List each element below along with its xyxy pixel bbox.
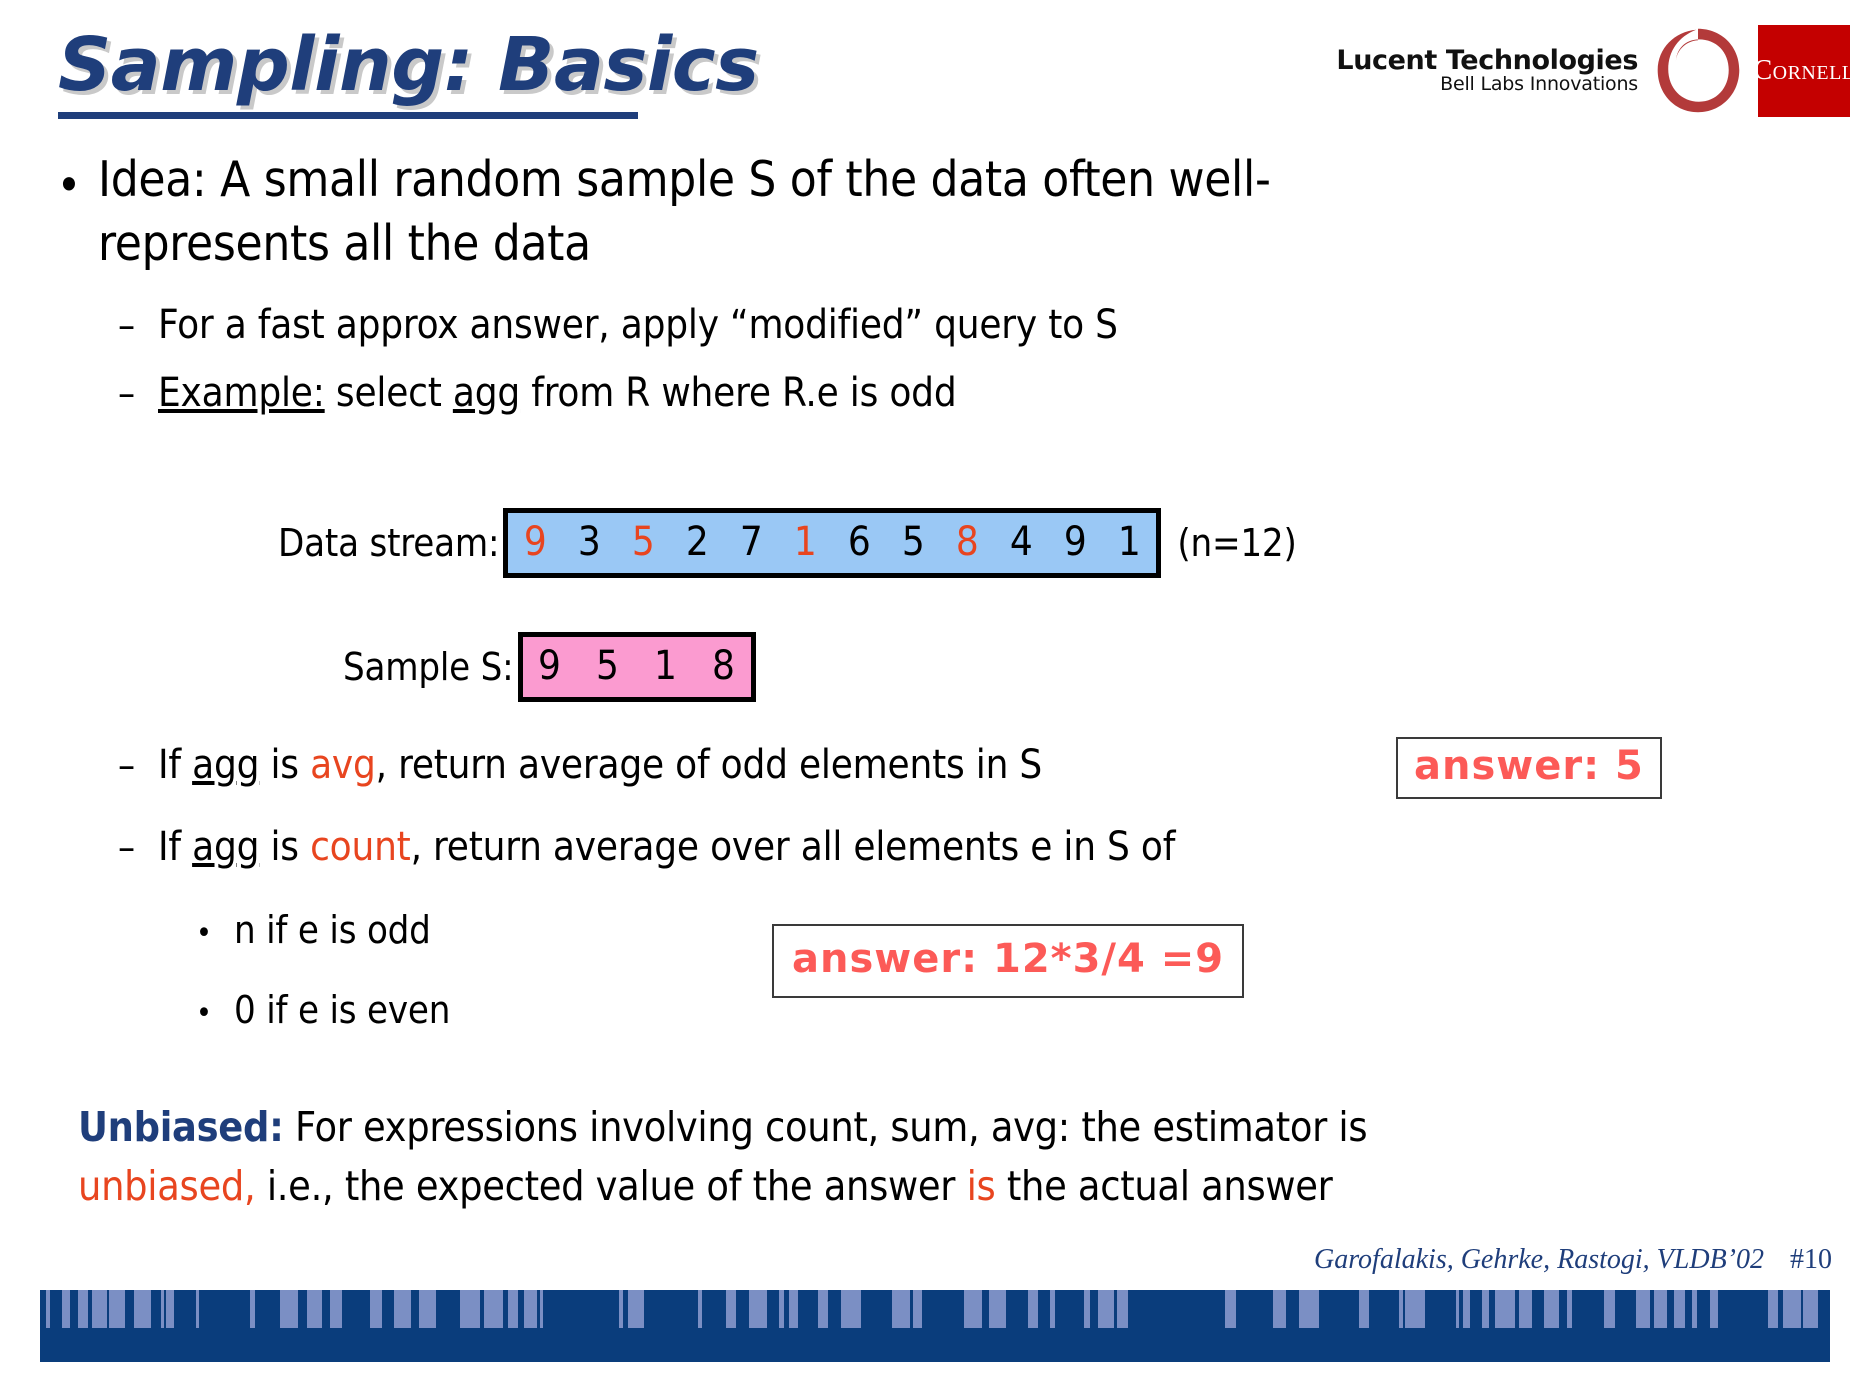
lucent-tagline: Bell Labs Innovations	[1336, 75, 1638, 95]
count-rest: , return average over all elements e in …	[411, 824, 1176, 870]
sample-cell: 1	[653, 641, 679, 691]
bullet-marker: •	[196, 916, 234, 951]
footer-stripe	[134, 1290, 151, 1328]
footer-stripe	[1674, 1290, 1685, 1328]
data-stream-cell: 4	[1008, 517, 1034, 567]
footer-stripe	[460, 1290, 480, 1328]
answer-avg-box: answer: 5	[1396, 737, 1662, 799]
bullet-agg-count-text: If agg is count, return average over all…	[158, 824, 1175, 870]
footer-stripe	[1028, 1290, 1038, 1328]
title-underline	[58, 112, 638, 119]
dash-marker: –	[118, 743, 158, 787]
footer-stripe	[1482, 1290, 1489, 1328]
bullet-zero-even: • 0 if e is even	[196, 988, 450, 1032]
data-stream-cell: 1	[792, 517, 818, 567]
footer-stripe	[1495, 1290, 1515, 1328]
footer-stripe	[628, 1290, 644, 1328]
footer-stripe	[508, 1290, 518, 1328]
data-stream-cell: 9	[1062, 517, 1088, 567]
footer-stripe	[1692, 1290, 1697, 1328]
bullet-idea-text: Idea: A small random sample S of the dat…	[98, 148, 1480, 275]
example-select: select	[325, 370, 453, 416]
footer-stripe	[1456, 1290, 1459, 1328]
avg-rest: , return average of odd elements in S	[376, 742, 1042, 788]
footer-stripe	[619, 1290, 623, 1328]
count-if: If	[158, 824, 192, 870]
unbiased-is-keyword: is	[967, 1162, 996, 1210]
unbiased-note: Unbiased: For expressions involving coun…	[78, 1098, 1498, 1217]
count-is: is	[259, 824, 310, 870]
count-agg: agg	[192, 824, 259, 870]
footer-stripe	[1050, 1290, 1055, 1328]
dash-marker: –	[118, 371, 158, 415]
avg-is: is	[259, 742, 310, 788]
bullet-marker: •	[40, 148, 98, 208]
footer-stripe	[789, 1290, 798, 1328]
footer-stripe	[109, 1290, 125, 1328]
unbiased-lead: Unbiased:	[78, 1103, 284, 1151]
data-stream-cell: 3	[576, 517, 602, 567]
bullet-zero-even-text: 0 if e is even	[234, 988, 450, 1032]
data-stream-row: Data stream: 9 3 5 2 7 1 6 5 8 4 9 1 (n=…	[278, 508, 1297, 578]
bullet-agg-avg-text: If agg is avg, return average of odd ele…	[158, 742, 1042, 788]
answer-count-box: answer: 12*3/4 =9	[772, 924, 1244, 998]
footer-stripe	[250, 1290, 255, 1328]
footer-stripe	[1225, 1290, 1236, 1328]
footer-stripe	[78, 1290, 88, 1328]
bullet-example: – Example: select agg from R where R.e i…	[118, 370, 956, 416]
footer-stripe	[964, 1290, 982, 1328]
footer-page-number: #10	[1790, 1244, 1832, 1276]
data-stream-cell: 5	[900, 517, 926, 567]
unbiased-seg-2: i.e., the expected value of the answer	[255, 1162, 966, 1210]
bullet-n-odd: • n if e is odd	[196, 908, 431, 952]
footer-stripe	[1299, 1290, 1319, 1328]
count-keyword: count	[310, 824, 411, 870]
footer-stripe	[1567, 1290, 1572, 1328]
footer-stripe	[1273, 1290, 1286, 1328]
footer-stripe	[161, 1290, 164, 1328]
footer-stripe	[1636, 1290, 1650, 1328]
data-stream-cell: 9	[522, 517, 548, 567]
footer-stripe	[892, 1290, 910, 1328]
bullet-fast-approx-text: For a fast approx answer, apply “modifie…	[158, 302, 1118, 348]
data-stream-cell: 1	[1116, 517, 1142, 567]
footer-stripe	[62, 1290, 70, 1328]
footer-stripe	[1084, 1290, 1090, 1328]
footer-stripe	[989, 1290, 1006, 1328]
bullet-n-odd-text: n if e is odd	[234, 908, 431, 952]
footer-stripe	[1710, 1290, 1718, 1328]
footer-stripe	[330, 1290, 342, 1328]
data-stream-cell: 7	[738, 517, 764, 567]
bullet-agg-avg: – If agg is avg, return average of odd e…	[118, 742, 1042, 788]
footer-stripe	[1654, 1290, 1667, 1328]
data-stream-cell: 2	[684, 517, 710, 567]
footer-stripe	[749, 1290, 767, 1328]
footer-stripe	[484, 1290, 503, 1328]
footer-stripe	[92, 1290, 107, 1328]
example-keyword: Example:	[158, 370, 325, 416]
unbiased-seg-3: the actual answer	[995, 1162, 1332, 1210]
footer-stripe	[1463, 1290, 1470, 1328]
footer-stripe	[307, 1290, 322, 1328]
lucent-ring-icon	[1650, 23, 1746, 119]
footer-stripe	[419, 1290, 436, 1328]
footer-stripe	[779, 1290, 784, 1328]
footer-stripe	[370, 1290, 382, 1328]
example-rest: from R where R.e is odd	[520, 370, 956, 416]
footer-stripe	[1544, 1290, 1559, 1328]
footer-stripe	[1098, 1290, 1114, 1328]
footer-stripe	[394, 1290, 411, 1328]
footer-stripe	[818, 1290, 828, 1328]
example-agg: agg	[453, 370, 520, 416]
data-stream-cell: 8	[954, 517, 980, 567]
footer-stripe	[46, 1290, 50, 1328]
sample-cell: 9	[537, 641, 563, 691]
cornell-logo: Cornell	[1758, 25, 1850, 117]
sample-box: 9 5 1 8	[518, 632, 756, 702]
footer-stripe	[196, 1290, 199, 1328]
lucent-name: Lucent Technologies	[1336, 47, 1638, 75]
lucent-logo: Lucent Technologies Bell Labs Innovation…	[1336, 47, 1638, 95]
footer-stripe	[1519, 1290, 1532, 1328]
footer-stripe	[524, 1290, 537, 1328]
bullet-marker: •	[196, 996, 234, 1031]
footer-stripe	[698, 1290, 702, 1328]
sample-row: Sample S: 9 5 1 8	[343, 632, 756, 702]
avg-keyword: avg	[310, 742, 376, 788]
data-stream-cell: 6	[846, 517, 872, 567]
dash-marker: –	[118, 825, 158, 869]
footer-stripe	[166, 1290, 174, 1328]
sample-cell: 8	[711, 641, 737, 691]
sample-label: Sample S:	[343, 645, 518, 689]
avg-if: If	[158, 742, 192, 788]
footer-stripe	[1783, 1290, 1801, 1328]
footer-stripe	[1604, 1290, 1615, 1328]
footer-stripe	[841, 1290, 861, 1328]
data-stream-size-note: (n=12)	[1161, 521, 1296, 565]
footer-stripe	[913, 1290, 922, 1328]
footer-stripe	[540, 1290, 543, 1328]
footer-stripe	[1405, 1290, 1425, 1328]
footer-stripe	[1359, 1290, 1369, 1328]
footer-stripe	[1117, 1290, 1128, 1328]
data-stream-box: 9 3 5 2 7 1 6 5 8 4 9 1	[503, 508, 1161, 578]
cornell-wordmark: Cornell	[1753, 57, 1854, 85]
data-stream-label: Data stream:	[278, 521, 503, 565]
unbiased-seg-1: For expressions involving count, sum, av…	[284, 1103, 1368, 1151]
footer-stripe	[1768, 1290, 1778, 1328]
footer-credit: Garofalakis, Gehrke, Rastogi, VLDB’02	[1314, 1244, 1764, 1276]
page-title: Sampling: Basics	[58, 22, 759, 108]
footer-stripe	[280, 1290, 298, 1328]
unbiased-keyword: unbiased,	[78, 1162, 255, 1210]
footer-stripe	[1399, 1290, 1403, 1328]
bullet-example-text: Example: select agg from R where R.e is …	[158, 370, 956, 416]
bullet-idea: • Idea: A small random sample S of the d…	[40, 148, 1480, 275]
dash-marker: –	[118, 303, 158, 347]
data-stream-cell: 5	[630, 517, 656, 567]
avg-agg: agg	[192, 742, 259, 788]
sample-cell: 5	[595, 641, 621, 691]
footer-stripe	[1803, 1290, 1818, 1328]
footer-stripe	[726, 1290, 736, 1328]
bullet-agg-count: – If agg is count, return average over a…	[118, 824, 1175, 870]
footer-bar	[40, 1290, 1830, 1362]
bullet-fast-approx: – For a fast approx answer, apply “modif…	[118, 302, 1118, 348]
logo-group: Lucent Technologies Bell Labs Innovation…	[1336, 16, 1850, 126]
